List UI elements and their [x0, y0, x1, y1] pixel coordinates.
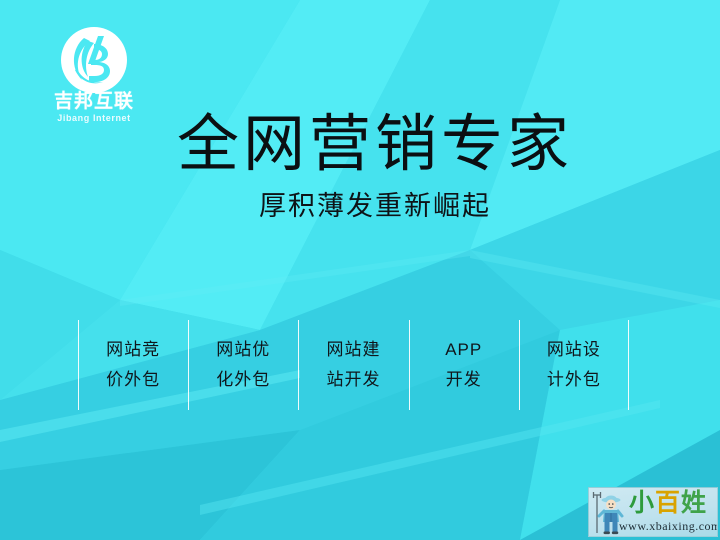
service-item-app-development[interactable]: APP 开发	[409, 320, 519, 410]
service-item-website-bidding-outsourcing[interactable]: 网站竞 价外包	[78, 320, 188, 410]
service-item-line2: 开发	[446, 365, 482, 395]
service-item-line1: 网站优	[216, 335, 270, 365]
watermark-char-3: 姓	[681, 489, 707, 517]
service-menu: 网站竞 价外包 网站优 化外包 网站建 站开发 APP 开发 网站设 计外包	[78, 320, 629, 410]
service-item-line2: 站开发	[327, 365, 381, 395]
service-item-website-construction-development[interactable]: 网站建 站开发	[298, 320, 408, 410]
jibang-circular-b-emblem-icon	[58, 24, 130, 96]
promotional-slide: 吉邦互联 Jibang Internet 全网营销专家 厚积薄发重新崛起 网站竞…	[0, 0, 720, 540]
service-item-line1: 网站建	[327, 335, 381, 365]
watermark-char-2: 百	[655, 489, 681, 517]
logo-name-cn: 吉邦互联	[34, 92, 154, 112]
service-item-line1: 网站竞	[106, 335, 160, 365]
watermark-char-1: 小	[629, 489, 655, 517]
service-item-line1: 网站设	[547, 335, 601, 365]
service-item-line1: APP	[445, 335, 482, 365]
service-item-line2: 化外包	[216, 365, 270, 395]
site-watermark: 小百姓 www.xbaixing.com	[588, 487, 718, 537]
page-subtitle: 厚积薄发重新崛起	[30, 192, 720, 222]
service-item-line2: 计外包	[547, 365, 601, 395]
service-item-website-optimization-outsourcing[interactable]: 网站优 化外包	[188, 320, 298, 410]
headline-block: 全网营销专家 厚积薄发重新崛起	[0, 112, 720, 221]
watermark-url: www.xbaixing.com	[619, 519, 718, 534]
watermark-brand: 小百姓	[629, 489, 707, 518]
page-title: 全网营销专家	[30, 112, 720, 178]
service-item-website-design-outsourcing[interactable]: 网站设 计外包	[519, 320, 629, 410]
service-item-line2: 价外包	[106, 365, 160, 395]
